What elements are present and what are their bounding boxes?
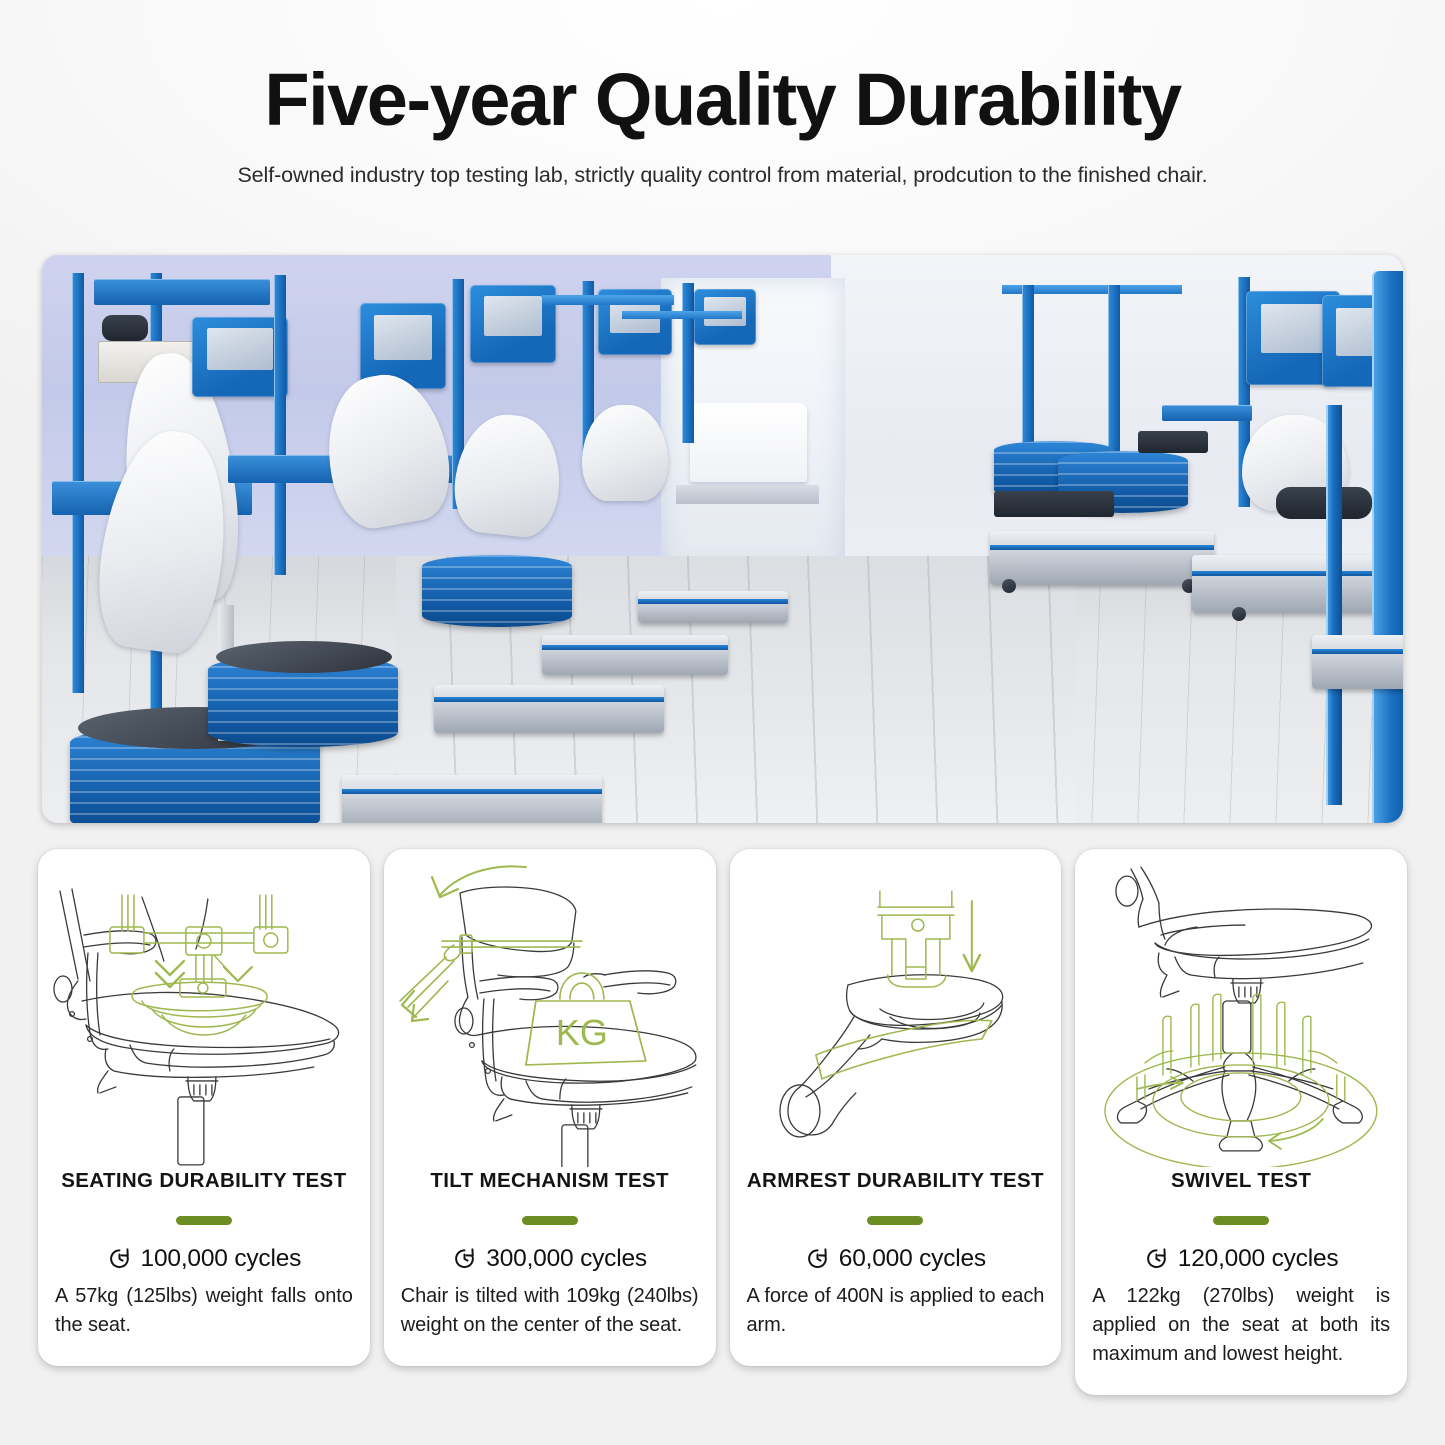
tilt-weight-illustration: KG: [384, 849, 716, 1167]
test-card-description: A 122kg (270lbs) weight is applied on th…: [1092, 1282, 1390, 1369]
test-card-swivel[interactable]: SWIVEL TEST 120,000 cycles A 122kg (270l…: [1075, 849, 1407, 1395]
header: Five-year Quality Durability Self-owned …: [0, 0, 1445, 188]
armrest-press-illustration: [730, 849, 1062, 1167]
page-subtitle: Self-owned industry top testing lab, str…: [0, 163, 1445, 188]
test-card-armrest-durability[interactable]: ARMREST DURABILITY TEST 60,000 cycles A …: [730, 849, 1062, 1366]
test-card-title: SWIVEL TEST: [1091, 1169, 1391, 1194]
cycle-clock-icon: [107, 1246, 132, 1271]
test-card-description: A 57kg (125lbs) weight falls onto the se…: [55, 1282, 353, 1340]
test-card-title: SEATING DURABILITY TEST: [54, 1169, 354, 1194]
cycle-count: 300,000 cycles: [384, 1245, 716, 1273]
accent-divider: [867, 1216, 923, 1225]
cycle-count-label: 100,000 cycles: [141, 1245, 302, 1273]
accent-divider: [522, 1216, 578, 1225]
test-card-title: TILT MECHANISM TEST: [400, 1169, 700, 1194]
cycle-clock-icon: [805, 1246, 830, 1271]
cycle-count-label: 60,000 cycles: [839, 1245, 986, 1273]
cycle-count-label: 300,000 cycles: [486, 1245, 647, 1273]
cycle-clock-icon: [452, 1246, 477, 1271]
accent-divider: [1213, 1216, 1269, 1225]
cycle-clock-icon: [1144, 1246, 1169, 1271]
lab-photo: [42, 255, 1403, 823]
cycle-count: 60,000 cycles: [730, 1245, 1062, 1273]
test-card-title: ARMREST DURABILITY TEST: [746, 1169, 1046, 1194]
test-card-description: Chair is tilted with 109kg (240lbs) weig…: [401, 1282, 699, 1340]
weight-label: KG: [556, 1012, 608, 1053]
accent-divider: [176, 1216, 232, 1225]
cycle-count-label: 120,000 cycles: [1178, 1245, 1339, 1273]
test-card-seating-durability[interactable]: SEATING DURABILITY TEST 100,000 cycles A…: [38, 849, 370, 1366]
test-card-list: SEATING DURABILITY TEST 100,000 cycles A…: [38, 849, 1407, 1395]
page-title: Five-year Quality Durability: [0, 62, 1445, 137]
cycle-count: 100,000 cycles: [38, 1245, 370, 1273]
cycle-count: 120,000 cycles: [1075, 1245, 1407, 1273]
test-card-tilt-mechanism[interactable]: KG TILT MECHANISM TEST 300,000 cycles Ch…: [384, 849, 716, 1366]
test-card-description: A force of 400N is applied to each arm.: [747, 1282, 1045, 1340]
durability-infographic: Five-year Quality Durability Self-owned …: [0, 0, 1445, 1445]
lab-photo-scene: [42, 255, 1403, 823]
swivel-base-illustration: [1075, 849, 1407, 1167]
seat-press-illustration: [38, 849, 370, 1167]
